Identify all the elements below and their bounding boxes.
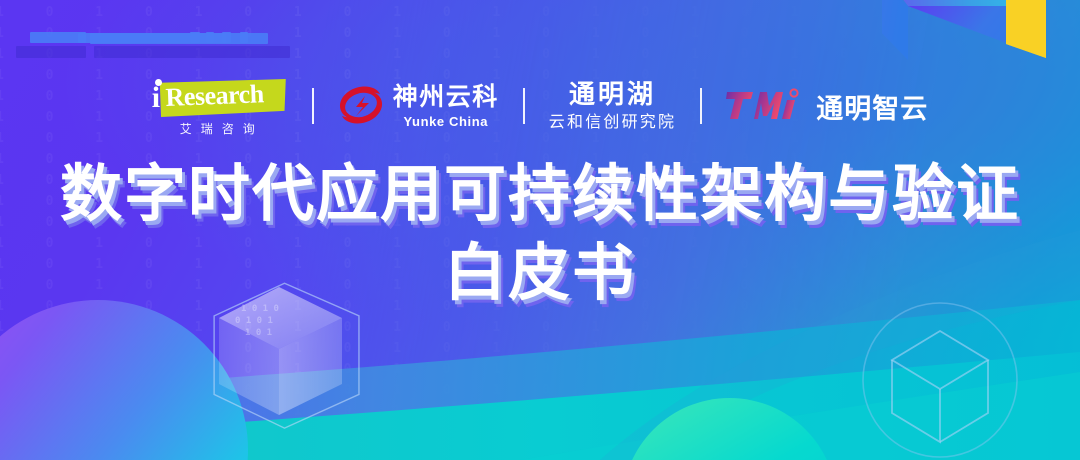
svg-text:0 1 0 1: 0 1 0 1 (235, 316, 273, 326)
tongminghu-secondary-name: 云和信创研究院 (549, 115, 676, 131)
logo-tmi-zhiyun[interactable]: 通明智云 (726, 86, 928, 126)
tmi-wordmark-icon (726, 86, 806, 126)
accent-bar (222, 32, 231, 43)
binary-row: 1 0 1 0 1 0 1 0 1 0 1 0 1 0 1 0 1 0 1 0 … (0, 237, 1080, 250)
binary-row: 1 0 1 0 1 0 1 0 1 0 1 0 1 0 1 0 1 0 1 0 … (0, 174, 1080, 187)
binary-row: 1 0 1 0 1 0 1 0 1 0 1 0 1 0 1 0 1 0 1 0 … (0, 216, 1080, 229)
binary-row: 1 0 1 0 1 0 1 0 1 0 1 0 1 0 1 0 1 0 1 0 … (0, 258, 1080, 271)
page-title-line-1: 数字时代应用可持续性架构与验证 (0, 160, 1080, 229)
iresearch-wordmark: Research (165, 78, 264, 113)
accent-bar (190, 32, 200, 43)
iresearch-i-letter: i (152, 83, 160, 113)
tmi-chinese-name: 通明智云 (816, 87, 928, 126)
partner-logo-row: i Research 艾瑞咨询 神州云科 Yunke China (0, 74, 1080, 138)
svg-text:1 0 1: 1 0 1 (245, 328, 272, 338)
iresearch-chinese-name: 艾瑞咨询 (156, 120, 288, 137)
accent-bar (206, 32, 214, 43)
binary-row: 1 0 1 0 1 0 1 0 1 0 1 0 1 0 1 0 1 0 1 0 … (0, 153, 1080, 166)
yunke-english-name: Yunke China (403, 115, 488, 128)
logo-iresearch[interactable]: i Research 艾瑞咨询 (152, 75, 288, 137)
logo-tongminghu[interactable]: 通明湖 云和信创研究院 (549, 82, 676, 131)
isometric-cube-wireframe-icon (845, 298, 1035, 460)
gradient-circle-teal (622, 398, 837, 460)
svg-text:1 0 1 0: 1 0 1 0 (241, 304, 279, 314)
logo-divider (312, 88, 314, 124)
logo-divider (523, 88, 525, 124)
logo-divider (700, 88, 702, 124)
yunke-chinese-name: 神州云科 (393, 85, 499, 110)
logo-yunke-china[interactable]: 神州云科 Yunke China (338, 85, 499, 128)
accent-bar (94, 46, 290, 58)
binary-row: 1 0 1 0 1 0 1 0 1 0 1 0 1 0 1 0 1 0 1 0 … (0, 195, 1080, 208)
binary-row: 1 0 1 0 1 0 1 0 1 0 1 0 1 0 1 0 1 0 1 0 … (0, 279, 1080, 292)
isometric-cube-solid-icon: 1 0 1 0 0 1 0 1 1 0 1 (205, 265, 405, 460)
cover-title-block: 数字时代应用可持续性架构与验证 白皮书 (0, 160, 1080, 309)
tongminghu-primary-name: 通明湖 (569, 82, 656, 108)
accent-bar (16, 46, 86, 58)
banner-stage: 1 0 1 0 1 0 1 0 1 0 1 0 1 0 1 0 1 0 1 0 … (0, 0, 1080, 460)
yunke-swoosh-icon (338, 85, 384, 127)
accent-bar (240, 32, 248, 43)
